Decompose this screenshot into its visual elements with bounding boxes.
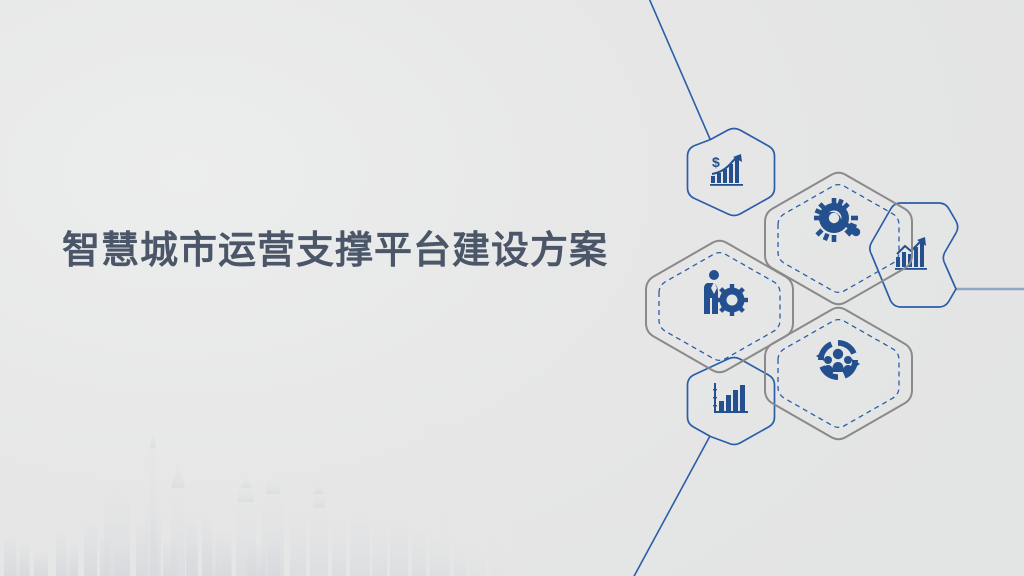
hex-revenue-growth[interactable]: $ [688, 129, 775, 216]
gear-wrench-icon [803, 190, 865, 252]
bottom-diagonal-line [632, 436, 710, 576]
hex-management-outline [646, 241, 793, 372]
hex-management-inner-dashed [659, 253, 780, 361]
city-skyline-silhouette [0, 426, 520, 576]
money-growth-chart-icon: $ [710, 154, 743, 186]
hex-collaboration-inner-dashed [778, 320, 899, 428]
title-block: 智慧城市运营支撑平台建设方案 [62, 228, 682, 276]
hexagon-infographic-cluster: $ [600, 0, 1024, 576]
svg-text:$: $ [712, 154, 720, 170]
hex-operations-outline [765, 173, 912, 304]
top-diagonal-line [648, 0, 710, 139]
hex-collaboration-outline [765, 308, 912, 439]
hex-operations[interactable] [765, 173, 912, 304]
page-title: 智慧城市运营支撑平台建设方案 [62, 228, 682, 276]
hex-trend-arrow-outline [870, 203, 958, 307]
slide-canvas: 智慧城市运营支撑平台建设方案 $ [0, 0, 1024, 576]
bar-chart-icon [713, 383, 748, 413]
hex-management[interactable] [646, 241, 793, 372]
hex-bar-chart[interactable] [688, 358, 775, 445]
teamwork-cycle-icon [816, 340, 860, 380]
person-gear-icon [704, 270, 748, 316]
hex-trend-arrow[interactable] [870, 203, 958, 307]
hex-collaboration[interactable] [765, 308, 912, 439]
